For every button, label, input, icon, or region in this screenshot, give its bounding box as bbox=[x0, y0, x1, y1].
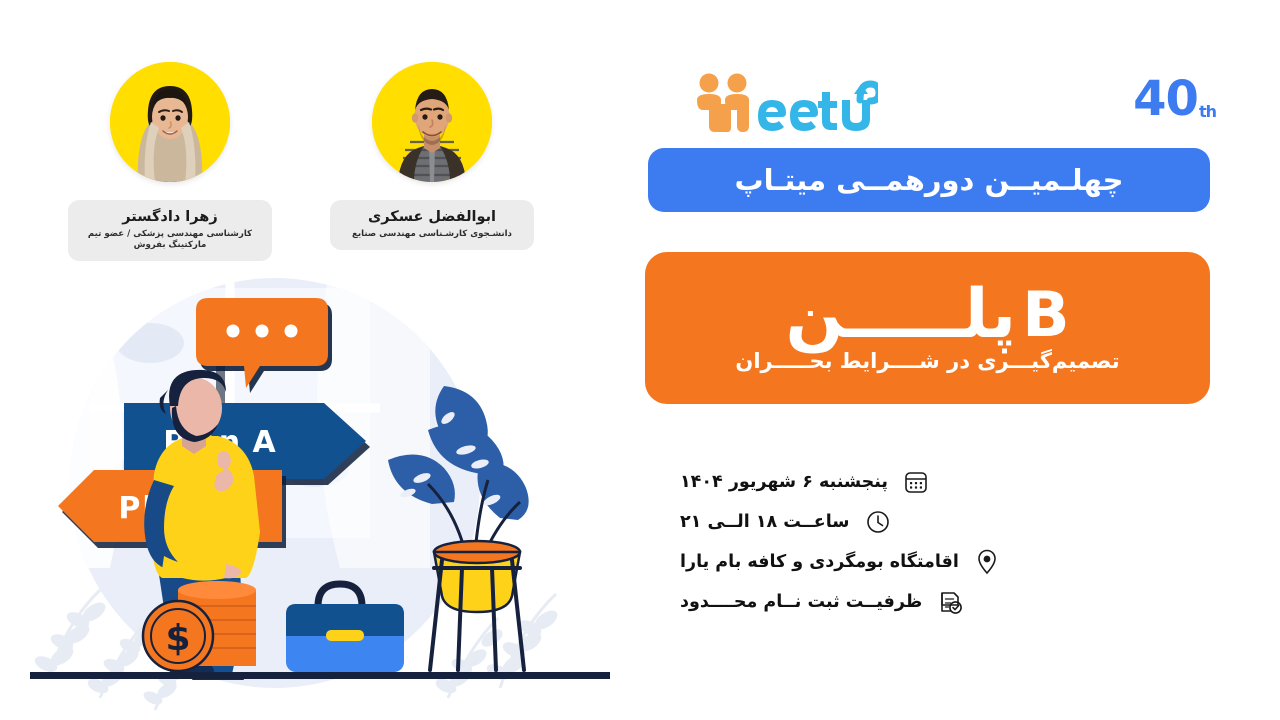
speaker-card: زهرا دادگستر کارشناسی مهندسی پزشکی / عضو… bbox=[55, 62, 285, 261]
right-info-pane: 40th چهلـمیــن دورهمــی میتـاپ پلـــــن … bbox=[620, 0, 1280, 720]
topic-card: پلـــــن B تصمیم‌گیـــری در شــــرایط بح… bbox=[645, 252, 1210, 404]
calendar-icon bbox=[902, 468, 930, 496]
speaker-title: دانشـجوی کارشـناسی مهندسی صنایع bbox=[336, 229, 528, 240]
detail-text-capacity: ظرفیــت ثبت نــام محــــدود bbox=[680, 592, 922, 612]
edition-value: 40 bbox=[1133, 75, 1198, 123]
location-pin-icon bbox=[973, 548, 1001, 576]
event-title-banner: چهلـمیــن دورهمــی میتـاپ bbox=[648, 148, 1210, 212]
event-details-list: پنجشنبه ۶ شهریور ۱۴۰۴ ساعــت ۱۸ الــی ۲۱ bbox=[680, 468, 1180, 616]
speaker-avatar-zahra bbox=[110, 62, 230, 182]
topic-title-en: B bbox=[1022, 286, 1069, 345]
topic-title-fa: پلـــــن bbox=[786, 283, 1017, 348]
event-title: چهلـمیــن دورهمــی میتـاپ bbox=[734, 163, 1123, 197]
svg-text:$: $ bbox=[165, 618, 190, 659]
brand-row: 40th bbox=[648, 62, 1252, 140]
detail-row-time: ساعــت ۱۸ الــی ۲۱ bbox=[680, 508, 1180, 536]
speakers-list: زهرا دادگستر کارشناسی مهندسی پزشکی / عضو… bbox=[55, 62, 555, 261]
detail-row-capacity: ظرفیــت ثبت نــام محــــدود bbox=[680, 588, 1180, 616]
detail-row-date: پنجشنبه ۶ شهریور ۱۴۰۴ bbox=[680, 468, 1180, 496]
plan-b-illustration: Plan A Plan B bbox=[30, 268, 610, 720]
edition-ordinal: th bbox=[1199, 104, 1216, 120]
registration-check-icon bbox=[936, 588, 964, 616]
speaker-card: ابوالفضل عسکری دانشـجوی کارشـناسی مهندسی… bbox=[317, 62, 547, 261]
topic-title-line: پلـــــن B bbox=[786, 283, 1070, 348]
clock-icon bbox=[864, 508, 892, 536]
speaker-title: کارشناسی مهندسی پزشکی / عضو تیم مارکتینگ… bbox=[74, 229, 266, 251]
left-visual-pane: زهرا دادگستر کارشناسی مهندسی پزشکی / عضو… bbox=[0, 0, 620, 720]
edition-number: 40th bbox=[1133, 75, 1216, 123]
detail-text-date: پنجشنبه ۶ شهریور ۱۴۰۴ bbox=[680, 472, 888, 492]
speaker-avatar-abolfazl bbox=[372, 62, 492, 182]
detail-text-location: اقامتگاه بومگردی و کافه بام یارا bbox=[680, 552, 959, 572]
detail-text-time: ساعــت ۱۸ الــی ۲۱ bbox=[680, 512, 850, 532]
topic-subtitle: تصمیم‌گیـــری در شــــرایط بحـــــران bbox=[735, 349, 1119, 373]
speaker-name-card: زهرا دادگستر کارشناسی مهندسی پزشکی / عضو… bbox=[68, 200, 272, 261]
detail-row-location: اقامتگاه بومگردی و کافه بام یارا bbox=[680, 548, 1180, 576]
speaker-name-card: ابوالفضل عسکری دانشـجوی کارشـناسی مهندسی… bbox=[330, 200, 534, 250]
speaker-name: ابوالفضل عسکری bbox=[336, 209, 528, 225]
meetup-logo bbox=[688, 70, 878, 132]
event-poster: زهرا دادگستر کارشناسی مهندسی پزشکی / عضو… bbox=[0, 0, 1280, 720]
speaker-name: زهرا دادگستر bbox=[74, 209, 266, 225]
